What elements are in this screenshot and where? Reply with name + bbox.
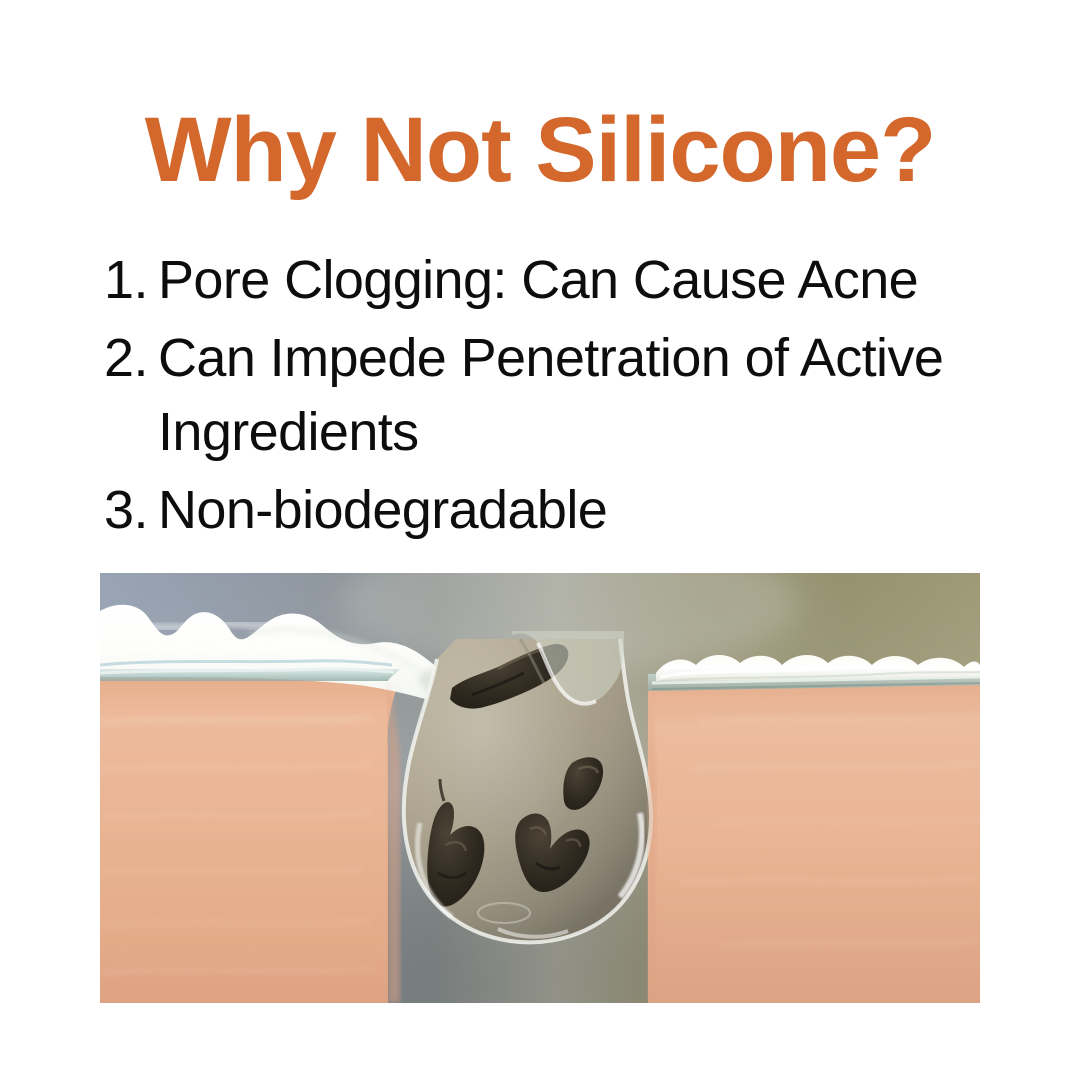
list-item-label: Pore Clogging: Can Cause Acne (148, 243, 996, 317)
cream-layer-right (656, 655, 980, 681)
clogged-pore (404, 631, 651, 942)
list-item: 2. Can Impede Penetration of Active Ingr… (96, 321, 996, 469)
list-item-number: 2. (96, 321, 148, 395)
list-item: 3. Non-biodegradable (96, 473, 996, 547)
list-item-number: 1. (96, 243, 148, 317)
reasons-list: 1. Pore Clogging: Can Cause Acne 2. Can … (96, 243, 996, 551)
page-title: Why Not Silicone? (0, 104, 1080, 196)
list-item-number: 3. (96, 473, 148, 547)
list-item-label: Non-biodegradable (148, 473, 996, 547)
skin-cross-section-image (100, 573, 980, 1003)
skin-right (648, 678, 980, 1003)
list-item-label: Can Impede Penetration of Active Ingredi… (148, 321, 996, 469)
skin-left (100, 678, 400, 1003)
skin-cross-section-illustration (100, 573, 980, 1003)
list-item: 1. Pore Clogging: Can Cause Acne (96, 243, 996, 317)
